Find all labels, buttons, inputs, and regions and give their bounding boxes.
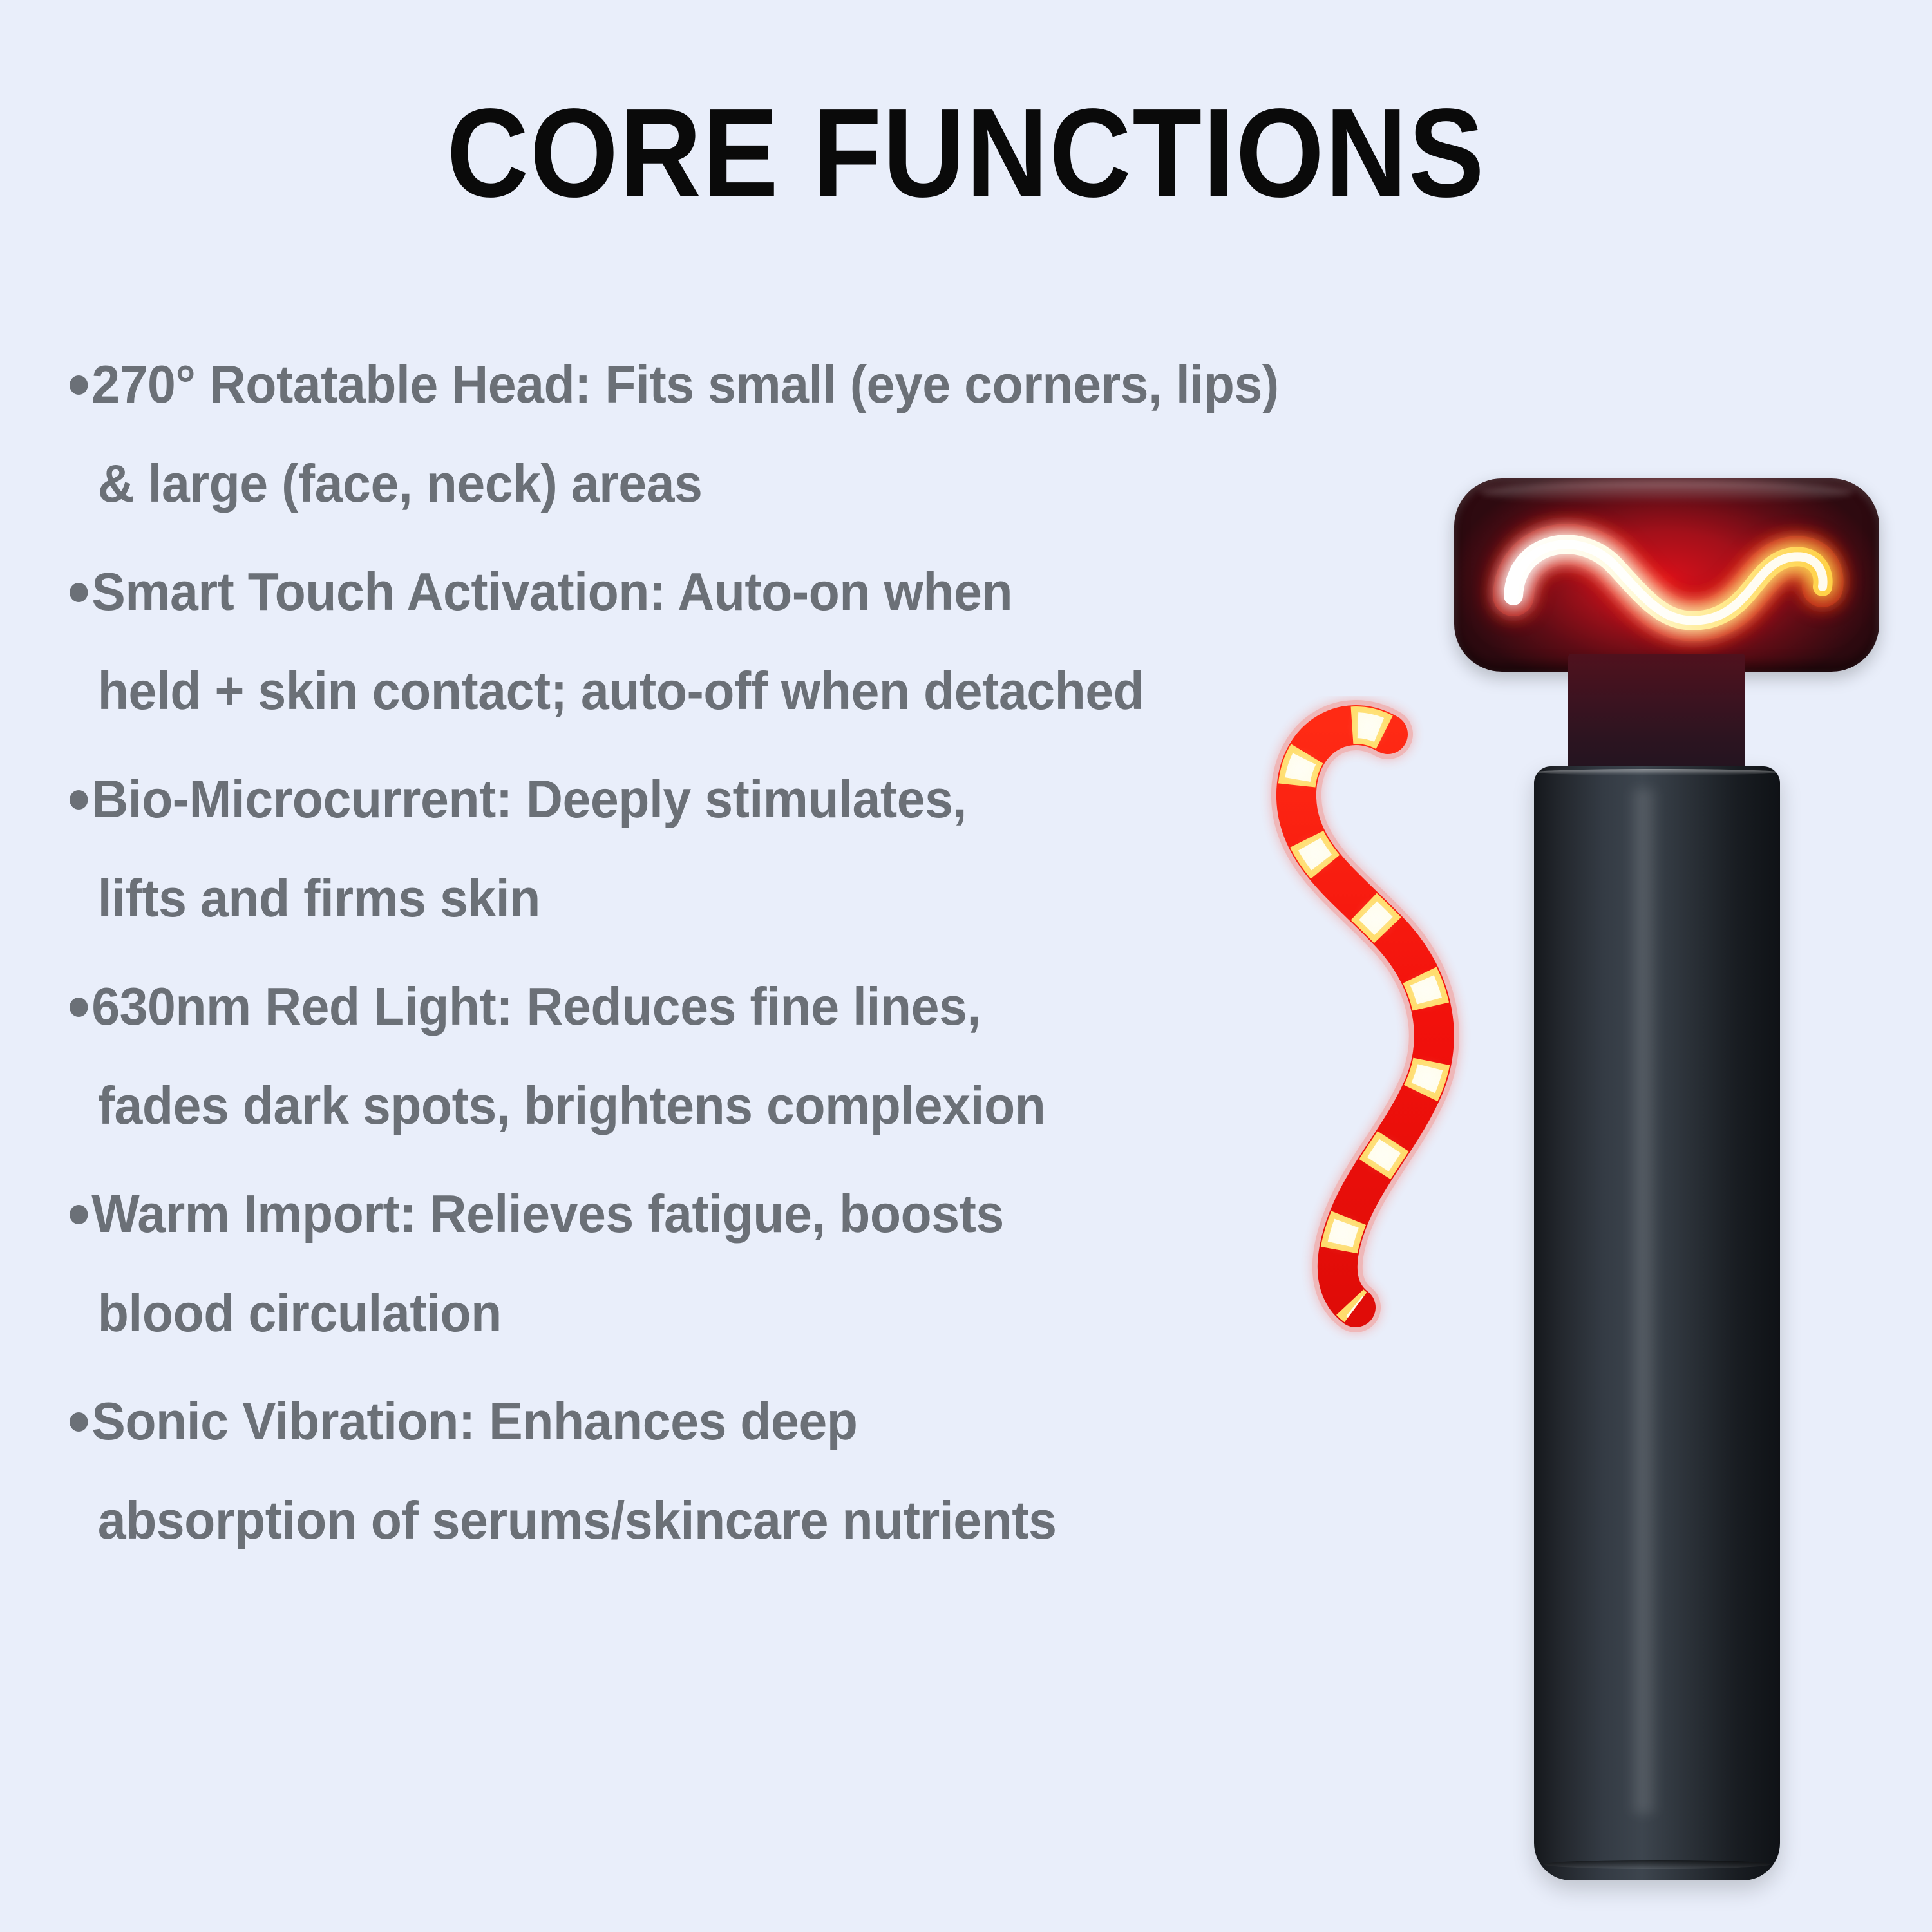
- feature-line: Warm Import: Relieves fatigue, boosts: [70, 1164, 1367, 1264]
- feature-line: blood circulation: [70, 1264, 1367, 1363]
- feature-text: 270° Rotatable Head: Fits small (eye cor…: [91, 354, 1278, 414]
- feature-line: absorption of serums/skincare nutrients: [70, 1471, 1367, 1570]
- wand-handle: [1534, 766, 1780, 1880]
- product-image-wand: [1436, 473, 1932, 1897]
- feature-line: held + skin contact; auto-off when detac…: [70, 641, 1367, 741]
- feature-line: Smart Touch Activation: Auto-on when: [70, 542, 1367, 641]
- feature-text: Sonic Vibration: Enhances deep: [91, 1391, 857, 1451]
- list-item: 630nm Red Light: Reduces fine lines, fad…: [70, 957, 1435, 1155]
- feature-line: & large (face, neck) areas: [70, 434, 1367, 533]
- feature-line: Bio-Microcurrent: Deeply stimulates,: [70, 750, 1367, 849]
- list-item: Bio-Microcurrent: Deeply stimulates, lif…: [70, 750, 1435, 948]
- list-item: Sonic Vibration: Enhances deep absorptio…: [70, 1372, 1435, 1570]
- wand-treatment-head: [1454, 478, 1879, 672]
- infographic-page: CORE FUNCTIONS 270° Rotatable Head: Fits…: [0, 0, 1932, 1932]
- list-item: 270° Rotatable Head: Fits small (eye cor…: [70, 335, 1435, 533]
- bullet-dot-icon: [70, 790, 88, 810]
- feature-text: Bio-Microcurrent: Deeply stimulates,: [91, 769, 967, 829]
- list-item: Warm Import: Relieves fatigue, boosts bl…: [70, 1164, 1435, 1363]
- bullet-dot-icon: [70, 1412, 88, 1432]
- feature-line: 630nm Red Light: Reduces fine lines,: [70, 957, 1367, 1056]
- sine-wave-icon: [1454, 478, 1879, 672]
- page-title: CORE FUNCTIONS: [97, 90, 1835, 216]
- bullet-dot-icon: [70, 1205, 88, 1224]
- handle-specular-highlight: [1627, 789, 1660, 1814]
- feature-text: Warm Import: Relieves fatigue, boosts: [91, 1184, 1004, 1244]
- feature-text: Smart Touch Activation: Auto-on when: [91, 562, 1012, 621]
- wand-rotatable-neck: [1568, 654, 1745, 782]
- bullet-dot-icon: [70, 583, 88, 602]
- feature-line: lifts and firms skin: [70, 849, 1367, 948]
- bullet-dot-icon: [70, 998, 88, 1017]
- bullet-dot-icon: [70, 375, 88, 395]
- feature-line: Sonic Vibration: Enhances deep: [70, 1372, 1367, 1471]
- feature-line: fades dark spots, brightens complexion: [70, 1056, 1367, 1155]
- feature-line: 270° Rotatable Head: Fits small (eye cor…: [70, 335, 1367, 434]
- list-item: Smart Touch Activation: Auto-on when hel…: [70, 542, 1435, 741]
- feature-list: 270° Rotatable Head: Fits small (eye cor…: [70, 335, 1435, 1579]
- feature-text: 630nm Red Light: Reduces fine lines,: [91, 976, 981, 1036]
